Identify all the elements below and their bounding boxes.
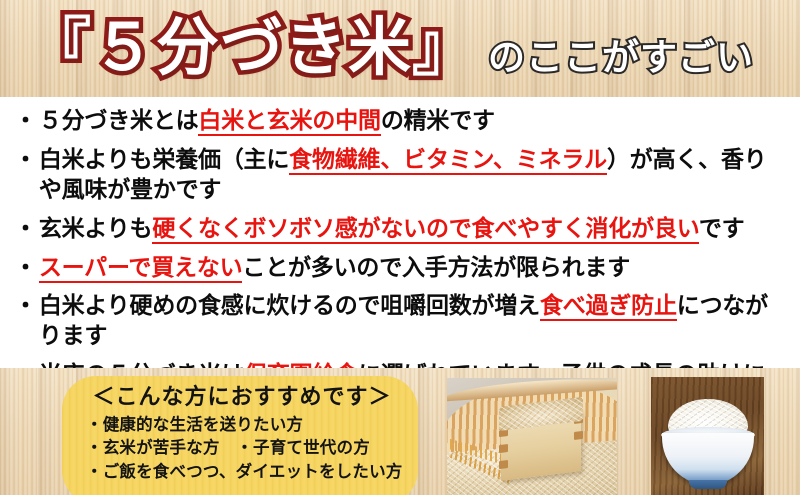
recommendation-line: ・ご飯を食べつつ、ダイエットをしたい方 xyxy=(76,461,408,485)
benefit-plain-text: です xyxy=(699,215,745,241)
header-title-group: 『５分づき米』 のここがすごい xyxy=(0,0,800,97)
benefit-plain-text: 玄米よりも xyxy=(39,215,153,241)
page-title: 『５分づき米』 xyxy=(28,17,476,80)
benefit-plain-text: の精米です xyxy=(381,107,495,133)
recommendation-line: ・健康的な生活を送りたい方 xyxy=(76,414,408,438)
benefit-item: ・玄米よりも硬くなくボソボソ感がないので食べやすく消化が良いです xyxy=(14,214,788,244)
benefit-plain-text: ５分づき米とは xyxy=(39,107,199,133)
benefit-highlight: スーパーで買えない xyxy=(39,254,243,283)
page-subtitle: のここがすごい xyxy=(488,39,754,76)
cooked-rice-bowl-photo xyxy=(651,377,764,495)
benefit-highlight: 食物繊維、ビタミン、ミネラル xyxy=(289,146,607,175)
bullet-marker: ・ xyxy=(14,214,37,244)
benefit-text: スーパーで買えないことが多いので入手方法が限られます xyxy=(39,253,788,283)
benefit-text: 白米より硬めの食感に炊けるので咀嚼回数が増え食べ過ぎ防止につながります xyxy=(39,291,788,351)
benefit-plain-text: 白米よりも栄養価（主に xyxy=(39,146,289,172)
masu-joint xyxy=(499,444,508,453)
benefit-highlight: 硬くなくボソボソ感がないので食べやすく消化が良い xyxy=(152,215,699,244)
masu-joint xyxy=(574,431,583,440)
recommendation-line: ・玄米が苦手な方 ・子育て世代の方 xyxy=(76,437,408,461)
benefit-item: ・白米よりも栄養価（主に食物繊維、ビタミン、ミネラル）が高く、香りや風味が豊かで… xyxy=(14,145,788,205)
benefit-plain-text: 白米より硬めの食感に炊けるので咀嚼回数が増え xyxy=(39,292,540,318)
bullet-marker: ・ xyxy=(14,253,37,283)
benefit-item: ・スーパーで買えないことが多いので入手方法が限られます xyxy=(14,253,788,283)
bullet-marker: ・ xyxy=(14,106,37,136)
bullet-marker: ・ xyxy=(14,291,37,321)
recommendation-box: ＜こんな方におすすめです＞ ・健康的な生活を送りたい方 ・玄米が苦手な方 ・子育… xyxy=(62,376,418,495)
bullet-marker: ・ xyxy=(14,145,37,175)
benefit-plain-text: ことが多いので入手方法が限られます xyxy=(242,254,630,280)
benefits-list: ・５分づき米とは白米と玄米の中間の精米です・白米よりも栄養価（主に食物繊維、ビタ… xyxy=(0,97,800,368)
recommendation-heading: ＜こんな方におすすめです＞ xyxy=(76,383,408,411)
benefit-text: 玄米よりも硬くなくボソボソ感がないので食べやすく消化が良いです xyxy=(39,214,788,244)
benefit-item: ・白米より硬めの食感に炊けるので咀嚼回数が増え食べ過ぎ防止につながります xyxy=(14,291,788,351)
rice-in-masu-box-photo xyxy=(447,378,617,495)
benefit-text: 白米よりも栄養価（主に食物繊維、ビタミン、ミネラル）が高く、香りや風味が豊かです xyxy=(39,145,788,205)
benefit-text: ５分づき米とは白米と玄米の中間の精米です xyxy=(39,106,788,136)
bowl-foot-shape xyxy=(689,480,727,489)
benefit-highlight: 食べ過ぎ防止 xyxy=(540,292,677,321)
header-banner: 『５分づき米』 のここがすごい xyxy=(0,0,800,97)
benefit-item: ・５分づき米とは白米と玄米の中間の精米です xyxy=(14,106,788,136)
masu-joint xyxy=(499,460,508,469)
benefit-highlight: 白米と玄米の中間 xyxy=(198,107,380,136)
